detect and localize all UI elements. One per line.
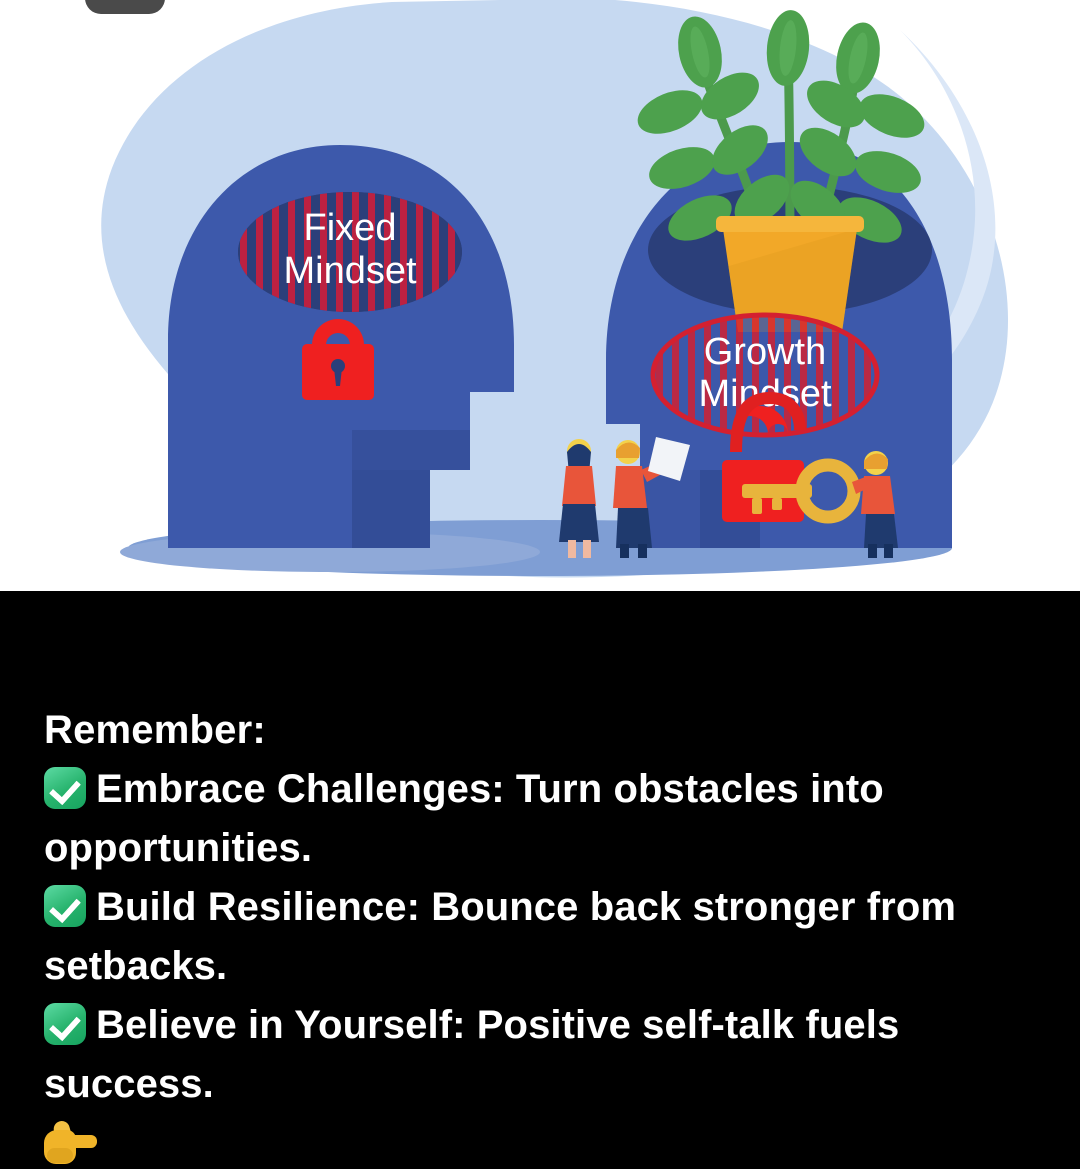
caption-item-3: Believe in Yourself: Positive self-talk …	[44, 996, 1029, 1114]
caption-item-1-text: Embrace Challenges: Turn obstacles into …	[44, 767, 884, 870]
top-status-pill[interactable]	[85, 0, 165, 14]
white-check-mark-icon	[44, 767, 86, 809]
caption-item-2-text: Build Resilience: Bounce back stronger f…	[44, 885, 956, 988]
caption-text-block: Remember: Embrace Challenges: Turn obsta…	[44, 701, 1044, 1169]
caption-trailing-line	[44, 1114, 1029, 1169]
illustration-image: Fixed Mindset	[0, 0, 1080, 591]
fixed-mindset-label-line1: Fixed	[304, 207, 397, 249]
caption-item-2: Build Resilience: Bounce back stronger f…	[44, 878, 1029, 996]
caption-heading: Remember:	[44, 701, 1044, 760]
white-check-mark-icon	[44, 885, 86, 927]
white-check-mark-icon	[44, 1003, 86, 1045]
growth-mindset-label-line1: Growth	[704, 331, 826, 373]
caption-panel: Remember: Embrace Challenges: Turn obsta…	[0, 591, 1080, 1169]
mindset-illustration-svg: Fixed Mindset	[0, 0, 1080, 591]
post-screen: Fixed Mindset	[0, 0, 1080, 1169]
caption-item-1: Embrace Challenges: Turn obstacles into …	[44, 760, 1029, 878]
fixed-mindset-label-line2: Mindset	[283, 250, 416, 292]
caption-item-3-text: Believe in Yourself: Positive self-talk …	[44, 1003, 899, 1106]
backhand-index-pointing-right-icon	[44, 1120, 98, 1164]
